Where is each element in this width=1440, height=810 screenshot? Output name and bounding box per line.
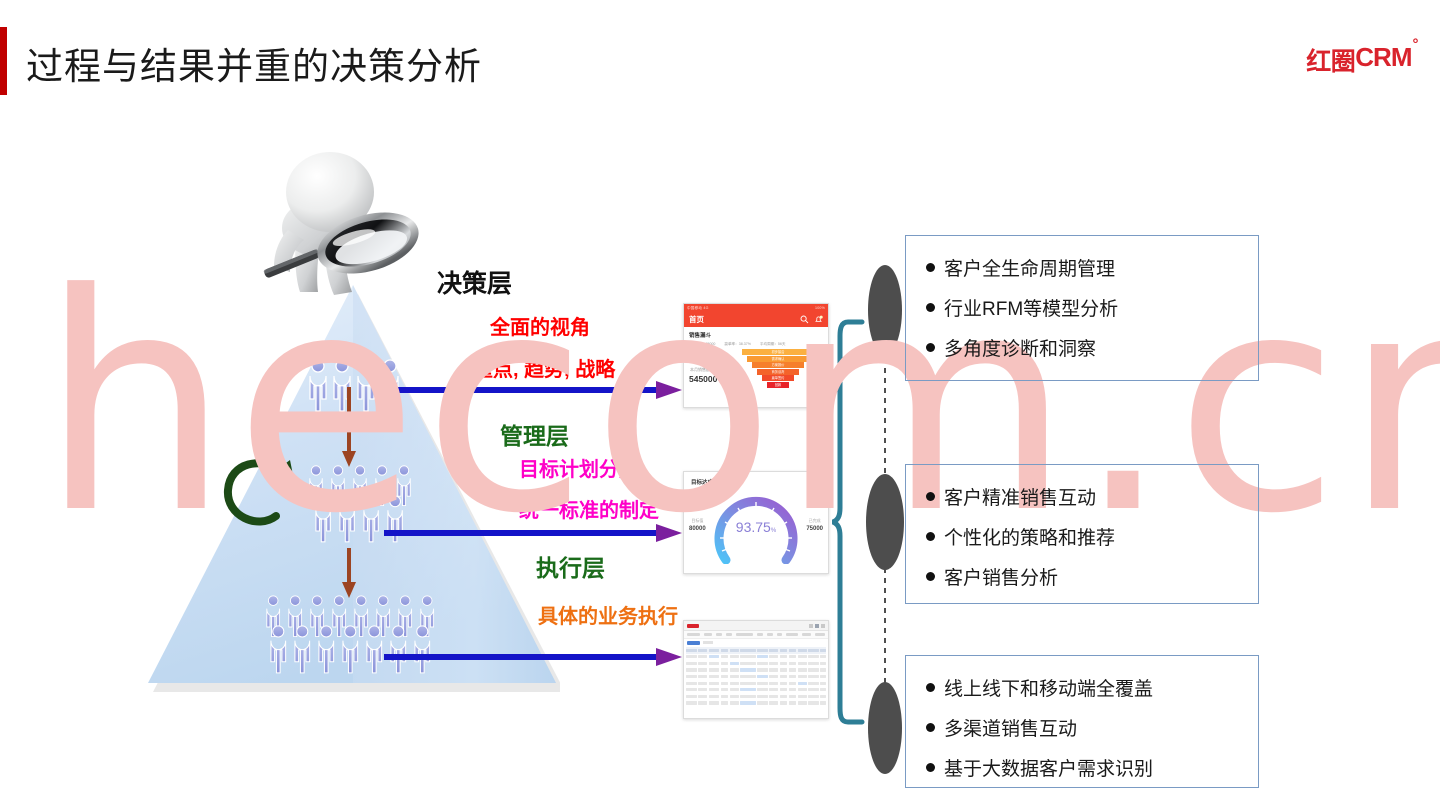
bullet-icon bbox=[926, 343, 935, 352]
mobile-status-bar: 中国移动 4G 100% bbox=[684, 304, 828, 312]
brand-logo: 红圈 CRM ° bbox=[1306, 42, 1418, 78]
mobile-card-sub-0: 总金额：545000 bbox=[689, 342, 715, 347]
table-app-topbar bbox=[684, 621, 828, 631]
title-accent-bar bbox=[0, 27, 7, 95]
table-app-grid[interactable] bbox=[684, 646, 828, 706]
list-item: 客户销售分析 bbox=[926, 563, 1258, 590]
info-box-decision: 客户全生命周期管理 行业RFM等模型分析 多角度诊断和洞察 bbox=[905, 235, 1259, 381]
list-item: 基于大数据客户需求识别 bbox=[926, 754, 1258, 781]
table-app-logo bbox=[687, 624, 699, 628]
list-item: 行业RFM等模型分析 bbox=[926, 294, 1258, 321]
mobile-nav-bar: 首页 bbox=[684, 312, 828, 327]
layer-note-execution-1: 具体的业务执行 bbox=[538, 600, 678, 629]
funnel-stage-0: 初步接洽 bbox=[742, 349, 814, 355]
bell-icon[interactable] bbox=[814, 315, 823, 324]
info-box-management: 客户精准销售互动 个性化的策略和推荐 客户销售分析 bbox=[905, 464, 1259, 604]
gauge-body: 目标值 80000 已完成 75000 93.75% bbox=[684, 486, 828, 564]
info-box-execution: 线上线下和移动端全覆盖 多渠道销售互动 基于大数据客户需求识别 bbox=[905, 655, 1259, 788]
funnel-stage-5: 回款 bbox=[767, 382, 789, 388]
table-row bbox=[686, 660, 826, 667]
layer-note-decision-2: 重点, 趋势, 战略 bbox=[473, 353, 615, 382]
cascade-arrow-bottom bbox=[341, 548, 357, 605]
funnel-stage-2: 方案报价 bbox=[752, 362, 804, 368]
layer-title-management: 管理层 bbox=[500, 417, 569, 451]
layer-note-management-1: 目标计划分解 bbox=[519, 453, 639, 482]
list-item: 线上线下和移动端全覆盖 bbox=[926, 674, 1258, 701]
layer-arrow-management bbox=[384, 524, 684, 547]
table-row bbox=[686, 687, 826, 694]
magnifier-person-illustration bbox=[238, 140, 423, 310]
layer-title-decision: 决策层 bbox=[437, 264, 512, 300]
gauge-header: 目标达成 详情 bbox=[684, 472, 828, 486]
table-row bbox=[686, 693, 826, 700]
list-item: 个性化的策略和推荐 bbox=[926, 523, 1258, 550]
gauge-title: 目标达成 bbox=[691, 478, 713, 486]
funnel-stage-1: 需求确认 bbox=[747, 356, 809, 362]
logo-en-text: CRM bbox=[1355, 42, 1411, 73]
table-app-menubar[interactable] bbox=[684, 631, 828, 639]
mobile-status-right: 100% bbox=[815, 306, 825, 310]
layer-note-management-2: 统一标准的制定 bbox=[519, 494, 659, 523]
list-item: 客户精准销售互动 bbox=[926, 483, 1258, 510]
chain-node-1 bbox=[868, 265, 902, 355]
mobile-nav-icons bbox=[800, 315, 823, 324]
list-item-label: 多角度诊断和洞察 bbox=[944, 334, 1096, 361]
bullet-icon bbox=[926, 683, 935, 692]
list-item: 客户全生命周期管理 bbox=[926, 254, 1258, 281]
mobile-card-sub-2: 平均周期：56天 bbox=[760, 342, 786, 347]
layer-arrow-execution bbox=[384, 648, 684, 671]
chain-node-3 bbox=[868, 682, 902, 774]
sales-funnel-chart: 初步接洽 需求确认 方案报价 商务谈判 赢单签约 回款 bbox=[742, 349, 814, 388]
mobile-card-title: 销售漏斗 bbox=[689, 331, 823, 339]
search-icon[interactable] bbox=[800, 315, 809, 324]
funnel-stage-4: 赢单签约 bbox=[762, 375, 794, 381]
table-row bbox=[686, 700, 826, 707]
mobile-metric-value: 545000 bbox=[689, 374, 717, 384]
table-row bbox=[686, 647, 826, 654]
mobile-app-screenshot[interactable]: 中国移动 4G 100% 首页 销售漏斗 总金额：545000 赢单率：38.3… bbox=[683, 303, 829, 408]
bullet-icon bbox=[926, 303, 935, 312]
slide-canvas: 过程与结果并重的决策分析 红圈 CRM ° bbox=[0, 0, 1440, 810]
list-item-label: 客户精准销售互动 bbox=[944, 483, 1096, 510]
list-item: 多角度诊断和洞察 bbox=[926, 334, 1258, 361]
list-item-label: 多渠道销售互动 bbox=[944, 714, 1077, 741]
table-row bbox=[686, 680, 826, 687]
cascade-arrow-top bbox=[341, 387, 357, 474]
mobile-metric-label: 本月销售额 bbox=[690, 367, 710, 373]
gauge-dashboard-screenshot[interactable]: 目标达成 详情 bbox=[683, 471, 829, 574]
mobile-card-subs: 总金额：545000 赢单率：38.37% 平均周期：56天 bbox=[689, 342, 823, 347]
list-item-label: 行业RFM等模型分析 bbox=[944, 294, 1118, 321]
bullet-icon bbox=[926, 723, 935, 732]
table-app-tabs[interactable] bbox=[684, 639, 828, 646]
mobile-status-left: 中国移动 4G bbox=[687, 306, 709, 311]
table-row bbox=[686, 654, 826, 661]
node-chain bbox=[860, 250, 910, 795]
list-item-label: 客户销售分析 bbox=[944, 563, 1058, 590]
feedback-loop-arrow bbox=[214, 450, 314, 545]
chain-node-2 bbox=[866, 474, 904, 570]
list-item-label: 个性化的策略和推荐 bbox=[944, 523, 1115, 550]
list-item: 多渠道销售互动 bbox=[926, 714, 1258, 741]
layer-arrow-decision bbox=[384, 381, 684, 404]
bullet-icon bbox=[926, 263, 935, 272]
table-row bbox=[686, 673, 826, 680]
page-title: 过程与结果并重的决策分析 bbox=[26, 36, 482, 90]
logo-cn-text: 红圈 bbox=[1306, 42, 1355, 78]
gauge-value-display: 93.75% bbox=[684, 519, 828, 535]
layer-note-decision-1: 全面的视角 bbox=[490, 311, 590, 340]
table-app-screenshot[interactable] bbox=[683, 620, 829, 719]
layer-title-execution: 执行层 bbox=[536, 549, 605, 583]
gauge-value-number: 93.75 bbox=[736, 519, 771, 535]
table-row bbox=[686, 667, 826, 674]
list-item-label: 客户全生命周期管理 bbox=[944, 254, 1115, 281]
gauge-more-link[interactable]: 详情 bbox=[813, 478, 821, 486]
mobile-nav-title: 首页 bbox=[689, 314, 704, 325]
bullet-icon bbox=[926, 532, 935, 541]
people-group-execution bbox=[262, 595, 452, 695]
mobile-card-sub-1: 赢单率：38.37% bbox=[724, 342, 751, 347]
bullet-icon bbox=[926, 572, 935, 581]
list-item-label: 基于大数据客户需求识别 bbox=[944, 754, 1153, 781]
bullet-icon bbox=[926, 492, 935, 501]
funnel-stage-3: 商务谈判 bbox=[757, 369, 799, 375]
bullet-icon bbox=[926, 763, 935, 772]
mobile-body: 销售漏斗 总金额：545000 赢单率：38.37% 平均周期：56天 本月销售… bbox=[684, 327, 828, 408]
logo-degree-icon: ° bbox=[1413, 39, 1419, 51]
list-item-label: 线上线下和移动端全覆盖 bbox=[944, 674, 1153, 701]
gauge-value-unit: % bbox=[771, 528, 776, 534]
table-window-controls[interactable] bbox=[809, 624, 825, 628]
